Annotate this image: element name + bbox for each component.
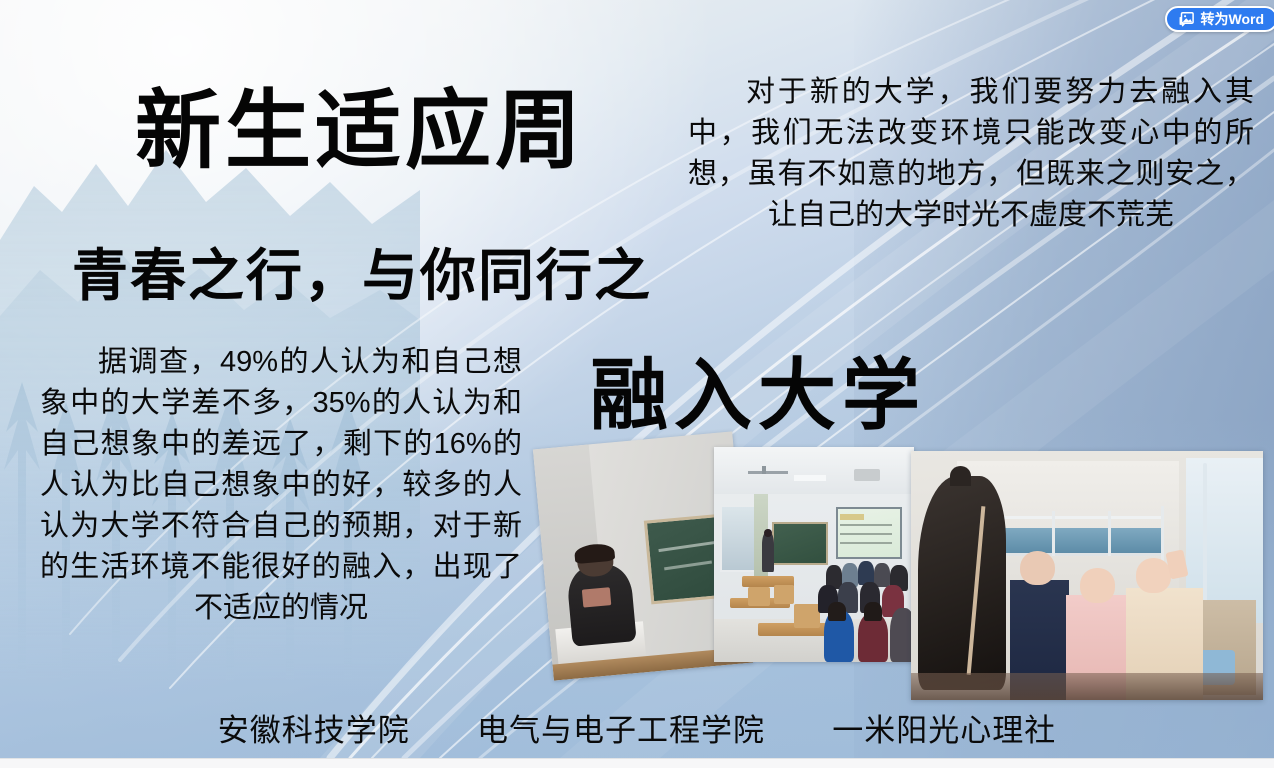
convert-to-word-button[interactable]: 转为Word [1165,6,1274,32]
dorm-bunk-rail [988,516,1164,519]
dorm-student-1-face [1020,551,1055,586]
subtitle-line-1: 青春之行，与你同行之 [72,245,652,307]
podium-speaker-shirt-logo [582,587,612,608]
classroom-slide-title-bar [840,514,864,520]
classroom-slide-text-line [840,533,892,535]
classroom-slide-text-line [840,524,892,526]
convert-to-word-label: 转为Word [1200,12,1264,26]
classroom-blackboard [772,522,828,565]
classroom-chair [748,587,770,606]
image-to-word-icon [1177,12,1194,27]
page-bottom-edge [0,758,1274,768]
classroom-slide-text-line [840,542,892,544]
dorm-photo-foreground-blur [911,673,1263,700]
dorm-student-2-face [1080,568,1115,603]
classroom-ceiling-fan-hub [762,466,766,474]
classroom-projector [854,469,880,482]
classroom-student [828,602,846,621]
dorm-bunk-frame [988,553,1164,556]
photo-classroom [714,447,914,662]
footer-org-college: 电气与电子工程学院 [477,705,765,750]
photo-dorm [911,451,1263,700]
dorm-coat-hook [950,466,971,486]
footer-organizations: 安徽科技学院 电气与电子工程学院 一米阳光心理社 [0,705,1274,750]
classroom-student [874,563,890,587]
classroom-window [720,505,756,572]
classroom-student [864,602,882,621]
dorm-bunk-post [1052,511,1055,556]
slide-canvas: 新生适应周 青春之行，与你同行之 融入大学 据调查，49%的人认为和自己想象中的… [0,0,1274,758]
page-title: 新生适应周 [135,86,585,176]
dorm-curtain-rail [1203,463,1207,617]
dorm-hanging-coat [918,476,1006,690]
classroom-chair [794,604,820,628]
classroom-ceiling-light [794,475,826,481]
dorm-bunk-post [1108,511,1111,556]
dorm-bunk-mattress [992,528,1161,553]
dorm-student-3-face [1136,558,1171,593]
classroom-student [858,561,874,585]
footer-org-university: 安徽科技学院 [218,705,410,750]
classroom-chair [774,585,794,604]
paragraph-survey-stats: 据调查，49%的人认为和自己想象中的大学差不多，35%的人认为和自己想象中的差远… [40,342,522,629]
classroom-presenter-body [762,533,774,572]
subtitle-line-2: 融入大学 [590,355,926,437]
classroom-ceiling [714,447,914,494]
classroom-ceiling-fan-blade [748,471,788,474]
footer-org-club: 一米阳光心理社 [832,705,1056,750]
paragraph-encouragement: 对于新的大学，我们要努力去融入其中，我们无法改变环境只能改变心中的所想，虽有不如… [688,72,1254,236]
dorm-bunk-post [1161,506,1164,561]
